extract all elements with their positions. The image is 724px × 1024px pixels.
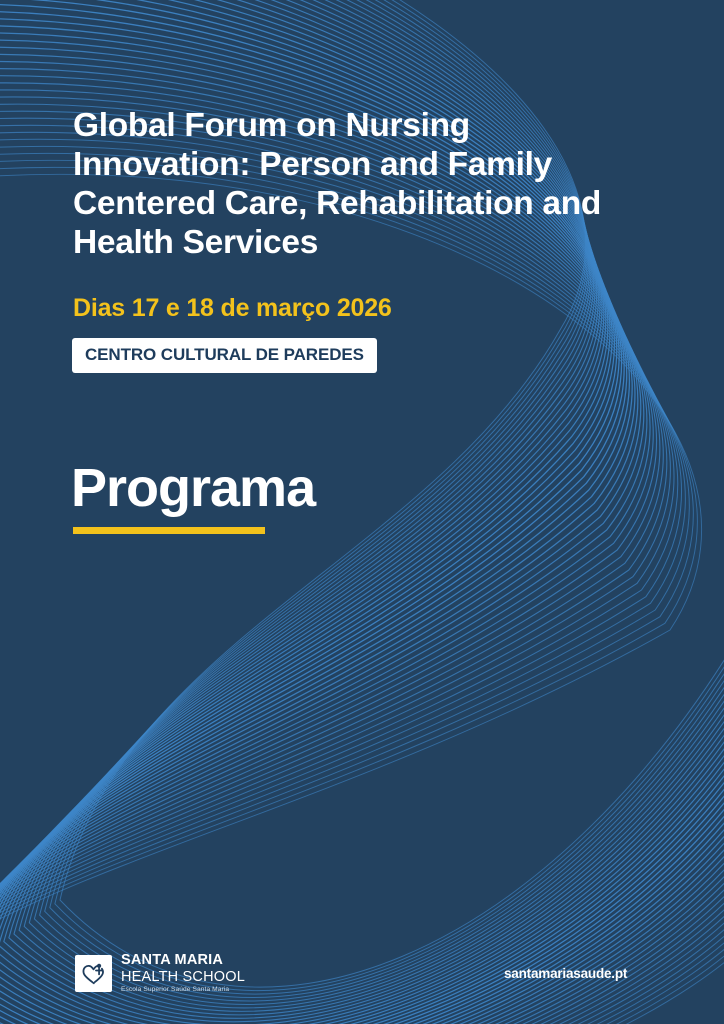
- venue-badge: CENTRO CULTURAL DE PAREDES: [72, 338, 377, 373]
- section-heading-underline: [73, 527, 265, 534]
- section-heading-programa: Programa: [71, 458, 315, 518]
- website-url: santamariasaude.pt: [504, 966, 627, 981]
- event-date: Dias 17 e 18 de março 2026: [73, 294, 392, 323]
- page-title: Global Forum on Nursing Innovation: Pers…: [73, 106, 653, 262]
- poster-canvas: Global Forum on Nursing Innovation: Pers…: [0, 0, 724, 1024]
- organization-logo: SANTA MARIA HEALTH SCHOOL Escola Superio…: [75, 953, 245, 994]
- logo-line-1: SANTA MARIA: [121, 953, 245, 968]
- logo-line-2: HEALTH SCHOOL: [121, 970, 245, 985]
- logo-tagline: Escola Superior Saúde Santa Maria: [121, 987, 245, 994]
- heart-with-figure-icon: [75, 955, 112, 992]
